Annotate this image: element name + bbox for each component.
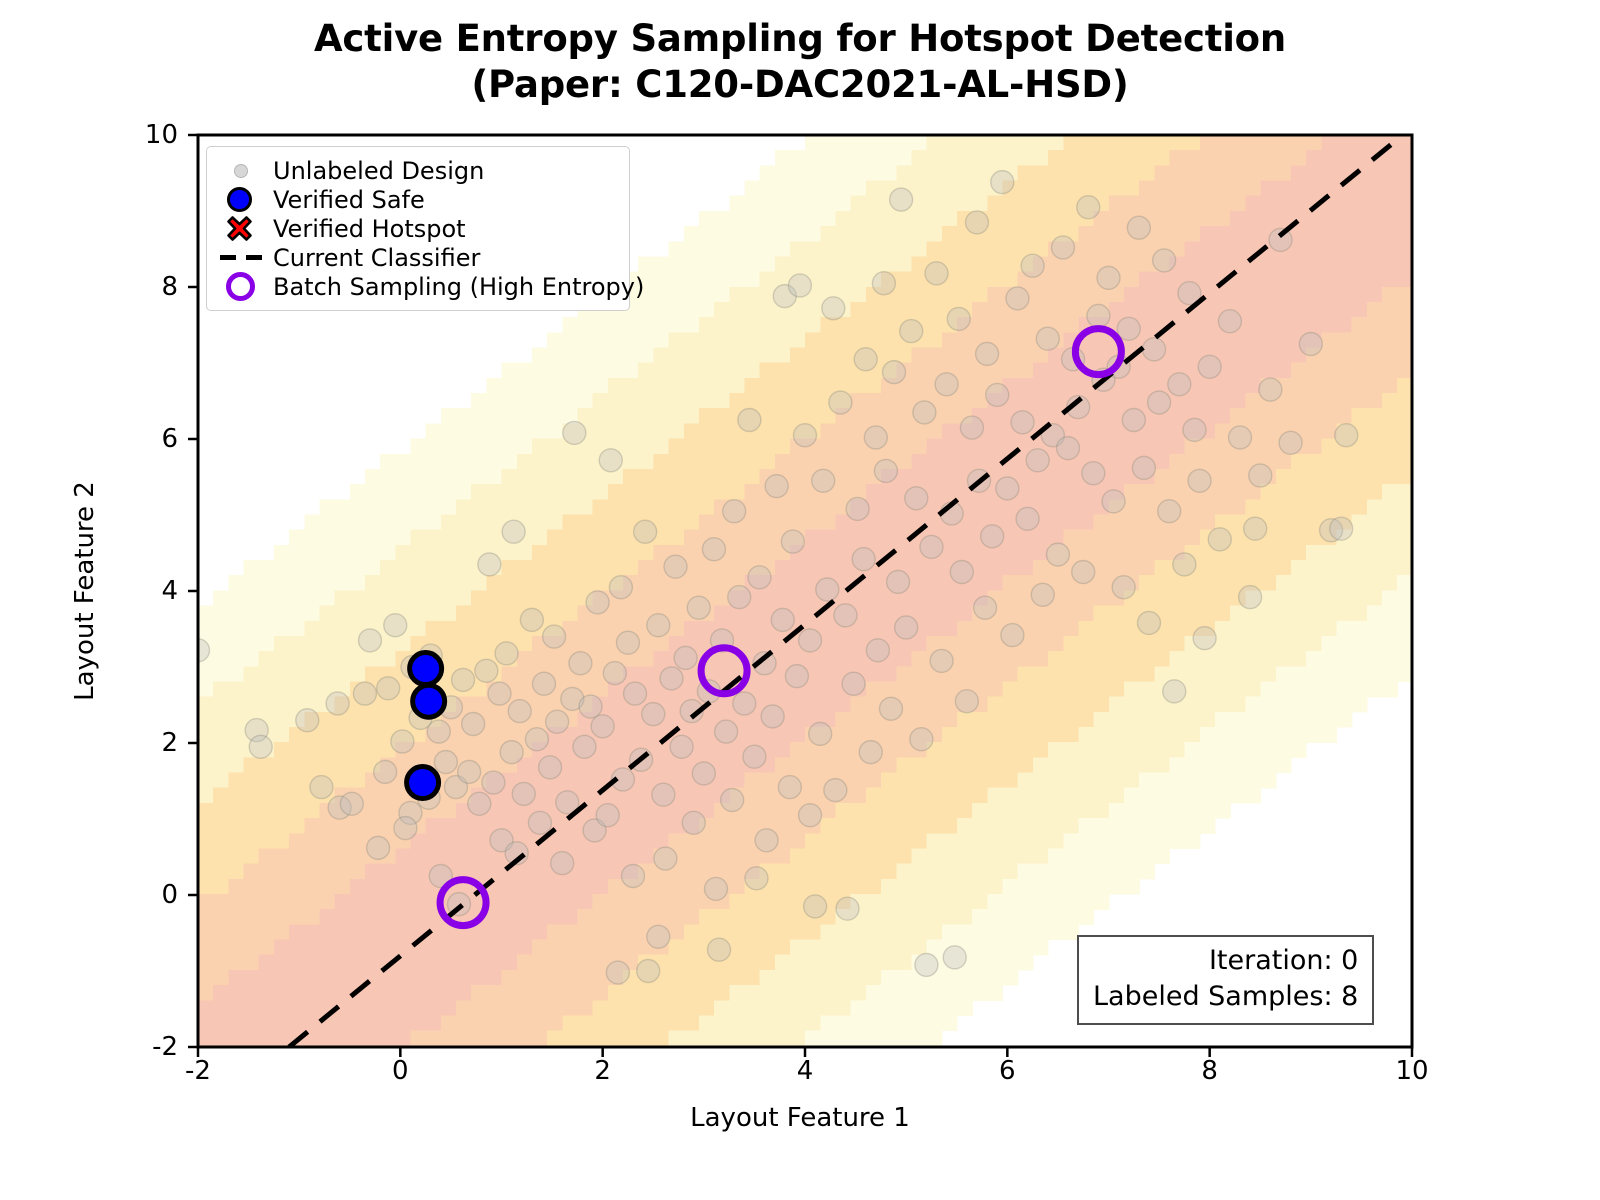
legend-item-current-classifier[interactable]: Current Classifier bbox=[217, 243, 617, 272]
legend-label-unlabeled-design: Unlabeled Design bbox=[273, 157, 484, 185]
legend-label-verified-hotspot: Verified Hotspot bbox=[273, 215, 466, 243]
red-x-icon bbox=[217, 214, 273, 243]
y-tick--2: -2 bbox=[108, 1032, 178, 1062]
x-tick-4: 4 bbox=[797, 1056, 814, 1086]
x-tick--2: -2 bbox=[185, 1056, 211, 1086]
legend-label-batch-sampling: Batch Sampling (High Entropy) bbox=[273, 273, 644, 301]
y-tick-10: 10 bbox=[108, 120, 178, 150]
y-tick-4: 4 bbox=[108, 576, 178, 606]
legend-item-verified-hotspot[interactable]: Verified Hotspot bbox=[217, 214, 617, 243]
gray-dot-icon bbox=[217, 156, 273, 185]
x-tick-8: 8 bbox=[1201, 1056, 1218, 1086]
legend-item-unlabeled-design[interactable]: Unlabeled Design bbox=[217, 156, 617, 185]
figure-canvas: Active Entropy Sampling for Hotspot Dete… bbox=[0, 0, 1600, 1200]
y-tick-2: 2 bbox=[108, 728, 178, 758]
x-tick-2: 2 bbox=[594, 1056, 611, 1086]
y-tick-8: 8 bbox=[108, 272, 178, 302]
x-tick-10: 10 bbox=[1395, 1056, 1428, 1086]
purple-ring-icon bbox=[217, 272, 273, 301]
y-axis-label: Layout Feature 2 bbox=[70, 351, 100, 831]
legend-label-verified-safe: Verified Safe bbox=[273, 186, 425, 214]
legend-item-verified-safe[interactable]: Verified Safe bbox=[217, 185, 617, 214]
y-tick-0: 0 bbox=[108, 880, 178, 910]
x-tick-0: 0 bbox=[392, 1056, 409, 1086]
iteration-status: Iteration: 0 bbox=[1093, 943, 1358, 979]
x-axis-label: Layout Feature 1 bbox=[0, 1103, 1600, 1133]
dashed-line-icon bbox=[217, 243, 273, 272]
y-tick-6: 6 bbox=[108, 424, 178, 454]
legend-box[interactable]: Unlabeled Design Verified Safe Verified … bbox=[206, 146, 630, 311]
x-tick-6: 6 bbox=[999, 1056, 1016, 1086]
legend-label-current-classifier: Current Classifier bbox=[273, 244, 480, 272]
blue-circle-icon bbox=[217, 185, 273, 214]
legend-item-batch-sampling[interactable]: Batch Sampling (High Entropy) bbox=[217, 272, 617, 301]
labeled-samples-status: Labeled Samples: 8 bbox=[1093, 979, 1358, 1015]
status-annotation-box: Iteration: 0 Labeled Samples: 8 bbox=[1077, 935, 1374, 1025]
